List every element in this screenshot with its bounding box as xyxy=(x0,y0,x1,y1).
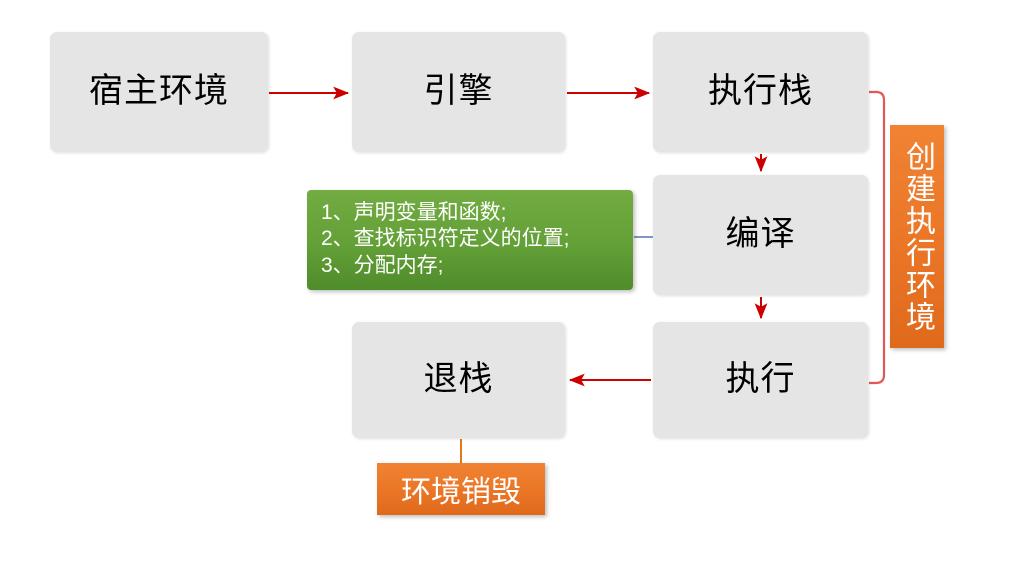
node-execute[interactable]: 执行 xyxy=(653,322,868,438)
diagram-canvas: 宿主环境 引擎 执行栈 编译 执行 退栈 1、声明变量和函数; 2、查找标识符定… xyxy=(0,0,1030,561)
tag-destroy-environment-label: 环境销毁 xyxy=(401,467,521,511)
compile-steps-note-line-2: 2、查找标识符定义的位置; xyxy=(321,226,633,252)
node-compile[interactable]: 编译 xyxy=(653,175,868,295)
node-engine[interactable]: 引擎 xyxy=(352,32,565,152)
connector-stack-to-execute-bracket xyxy=(869,92,884,383)
node-compile-label: 编译 xyxy=(726,216,796,253)
node-engine-label: 引擎 xyxy=(424,73,494,110)
node-pop-stack-label: 退栈 xyxy=(424,361,494,398)
node-pop-stack[interactable]: 退栈 xyxy=(352,322,565,438)
compile-steps-note[interactable]: 1、声明变量和函数; 2、查找标识符定义的位置; 3、分配内存; xyxy=(307,190,633,290)
compile-steps-note-line-1: 1、声明变量和函数; xyxy=(321,200,633,226)
tag-create-execution-context-label: 创建执行环境 xyxy=(895,141,939,333)
node-execution-stack[interactable]: 执行栈 xyxy=(653,32,868,152)
node-execution-stack-label: 执行栈 xyxy=(708,73,813,110)
node-host-environment-label: 宿主环境 xyxy=(89,73,229,110)
compile-steps-note-line-3: 3、分配内存; xyxy=(321,253,633,279)
node-host-environment[interactable]: 宿主环境 xyxy=(50,32,268,152)
node-execute-label: 执行 xyxy=(726,361,796,398)
tag-destroy-environment[interactable]: 环境销毁 xyxy=(377,463,545,515)
tag-create-execution-context[interactable]: 创建执行环境 xyxy=(890,125,944,348)
